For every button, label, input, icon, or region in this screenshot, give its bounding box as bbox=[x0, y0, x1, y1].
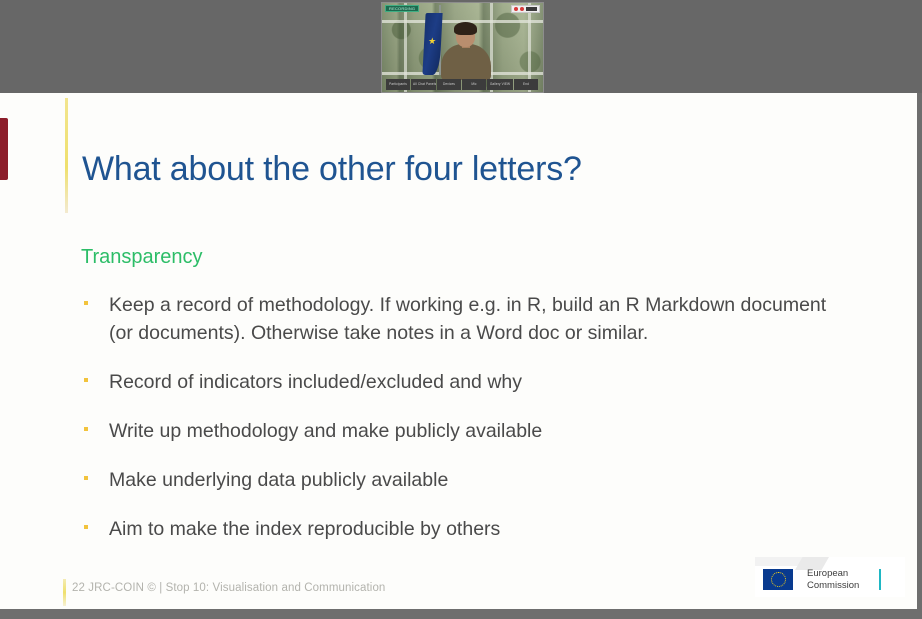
list-item: Write up methodology and make publicly a… bbox=[81, 417, 871, 445]
logo-text-line1: European bbox=[807, 568, 859, 580]
red-accent-tab bbox=[0, 118, 8, 180]
yellow-title-rule bbox=[65, 98, 68, 213]
page-title: What about the other four letters? bbox=[82, 150, 582, 189]
presentation-slide: What about the other four letters? Trans… bbox=[0, 93, 917, 609]
slide-edge-right bbox=[917, 93, 922, 619]
footer-accent-tick bbox=[63, 579, 66, 606]
toolbar-button-mic[interactable]: Mic bbox=[462, 79, 486, 90]
list-item-text: Record of indicators included/excluded a… bbox=[109, 368, 871, 396]
presenter-hair bbox=[454, 22, 477, 35]
record-dot-icon[interactable] bbox=[514, 7, 518, 11]
eu-stars-icon bbox=[771, 572, 786, 587]
list-item: Record of indicators included/excluded a… bbox=[81, 368, 871, 396]
control-bar-icon[interactable] bbox=[526, 7, 537, 11]
toolbar-button-participants[interactable]: Participants bbox=[386, 79, 410, 90]
logo-text-line2: Commission bbox=[807, 580, 859, 592]
list-item: Make underlying data publicly available bbox=[81, 466, 871, 494]
bullet-marker-icon bbox=[84, 301, 88, 305]
list-item: Keep a record of methodology. If working… bbox=[81, 291, 871, 347]
list-item-text: Keep a record of methodology. If working… bbox=[109, 291, 849, 347]
section-subtitle: Transparency bbox=[81, 246, 203, 269]
bullet-marker-icon bbox=[84, 378, 88, 382]
presenter-video-window[interactable]: RECORDING Participants All Chat Panels D… bbox=[381, 2, 544, 93]
eu-flag-icon bbox=[763, 569, 793, 590]
list-item-text: Make underlying data publicly available bbox=[109, 466, 871, 494]
european-commission-logo: European Commission bbox=[755, 557, 905, 601]
toolbar-button-gallery-view[interactable]: Gallery VIEW bbox=[487, 79, 513, 90]
toolbar-button-devices[interactable]: Devices bbox=[437, 79, 461, 90]
bullet-list: Keep a record of methodology. If working… bbox=[81, 291, 871, 564]
list-item: Aim to make the index reproducible by ot… bbox=[81, 515, 871, 543]
recording-label: RECORDING bbox=[385, 5, 419, 12]
screen: RECORDING Participants All Chat Panels D… bbox=[0, 0, 922, 619]
presenter-body bbox=[441, 44, 491, 80]
video-window-controls[interactable] bbox=[511, 5, 540, 13]
record-dot-icon[interactable] bbox=[520, 7, 524, 11]
bullet-marker-icon bbox=[84, 476, 88, 480]
bullet-marker-icon bbox=[84, 427, 88, 431]
toolbar-button-chat-panels[interactable]: All Chat Panels bbox=[411, 79, 436, 90]
toolbar-button-end[interactable]: End bbox=[514, 79, 538, 90]
video-toolbar[interactable]: Participants All Chat Panels Devices Mic… bbox=[386, 79, 538, 90]
logo-text: European Commission bbox=[807, 568, 859, 591]
list-item-text: Aim to make the index reproducible by ot… bbox=[109, 515, 871, 543]
logo-accent-bar bbox=[879, 569, 881, 590]
bullet-marker-icon bbox=[84, 525, 88, 529]
list-item-text: Write up methodology and make publicly a… bbox=[109, 417, 871, 445]
slide-edge-bottom bbox=[0, 609, 922, 619]
slide-footer: 22 JRC-COIN © | Stop 10: Visualisation a… bbox=[72, 582, 385, 594]
